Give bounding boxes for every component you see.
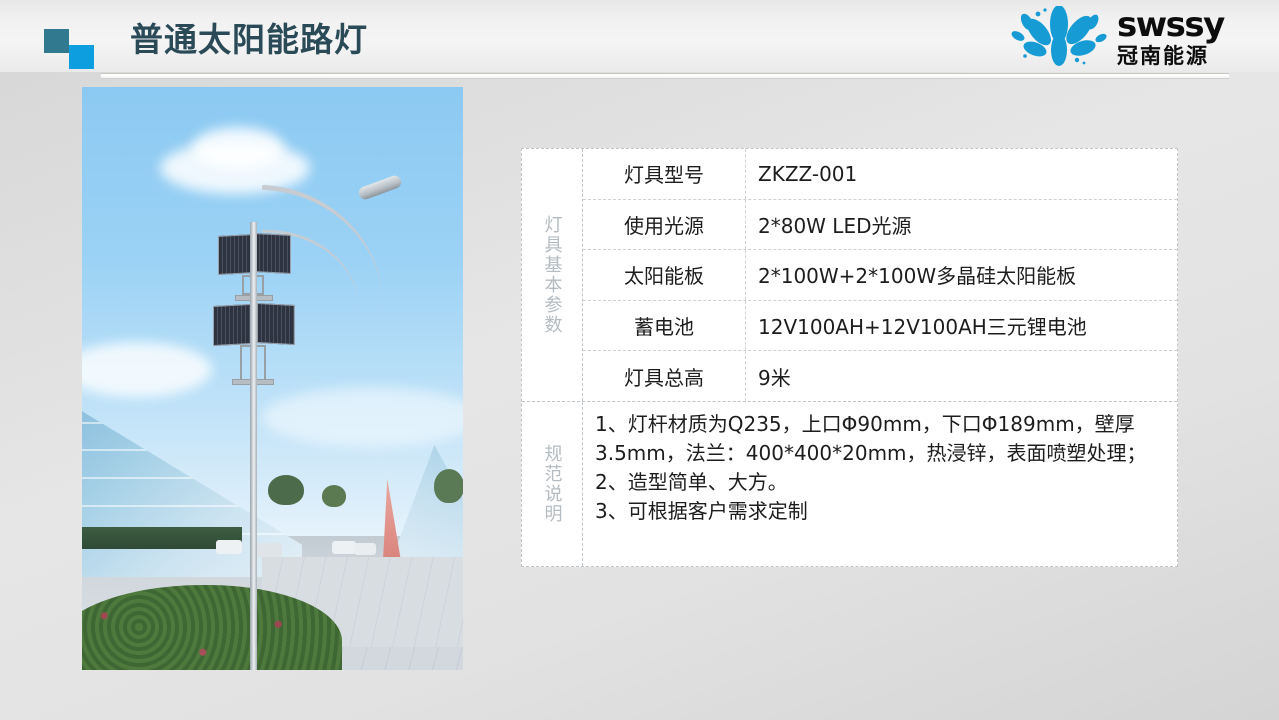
tree-shape bbox=[268, 475, 304, 505]
row-value: 12V100AH+12V100AH三元锂电池 bbox=[746, 301, 1177, 351]
water-droplet-flower-icon bbox=[1005, 6, 1113, 68]
basic-parameters-group-label: 灯具基本参数 bbox=[522, 149, 583, 401]
product-photo bbox=[82, 87, 463, 670]
row-key: 太阳能板 bbox=[583, 250, 746, 300]
basic-parameters-rows: 灯具型号 ZKZZ-001 使用光源 2*80W LED光源 太阳能板 2*10… bbox=[583, 149, 1177, 401]
logo-text-block: swssy 冠南能源 bbox=[1117, 8, 1261, 69]
parked-car bbox=[354, 543, 376, 555]
row-key: 蓄电池 bbox=[583, 301, 746, 351]
solar-panel bbox=[218, 234, 254, 275]
spec-note-line: 3、可根据客户需求定制 bbox=[595, 497, 1163, 526]
row-value: 9米 bbox=[746, 351, 1177, 401]
specification-notes-block: 规范说明 1、灯杆材质为Q235，上口Φ90mm，下口Φ189mm，壁厚3.5m… bbox=[522, 402, 1177, 566]
table-row: 灯具总高 9米 bbox=[583, 351, 1177, 401]
row-key: 灯具总高 bbox=[583, 351, 746, 401]
spec-note-line: 1、灯杆材质为Q235，上口Φ90mm，下口Φ189mm，壁厚3.5mm，法兰：… bbox=[595, 410, 1163, 468]
tree-shape bbox=[434, 469, 463, 503]
cloud-shape bbox=[192, 127, 284, 169]
specification-notes-group-label: 规范说明 bbox=[522, 402, 583, 566]
solar-panel bbox=[257, 303, 295, 345]
page-header: 普通太阳能路灯 bbox=[0, 0, 1279, 72]
basic-parameters-block: 灯具基本参数 灯具型号 ZKZZ-001 使用光源 2*80W LED光源 太阳… bbox=[522, 149, 1177, 402]
specification-notes-body: 1、灯杆材质为Q235，上口Φ90mm，下口Φ189mm，壁厚3.5mm，法兰：… bbox=[583, 402, 1177, 566]
table-row: 太阳能板 2*100W+2*100W多晶硅太阳能板 bbox=[583, 250, 1177, 301]
page-title: 普通太阳能路灯 bbox=[130, 18, 368, 62]
header-decoration-squares bbox=[44, 29, 96, 69]
parked-car bbox=[332, 541, 356, 554]
row-value: ZKZZ-001 bbox=[746, 149, 1177, 199]
header-divider-rule bbox=[101, 73, 1229, 79]
decoration-square-dark bbox=[44, 29, 69, 53]
company-logo: swssy 冠南能源 bbox=[1005, 4, 1261, 70]
row-key: 使用光源 bbox=[583, 200, 746, 250]
row-key: 灯具型号 bbox=[583, 149, 746, 199]
specification-table: 灯具基本参数 灯具型号 ZKZZ-001 使用光源 2*80W LED光源 太阳… bbox=[521, 148, 1178, 567]
row-value: 2*100W+2*100W多晶硅太阳能板 bbox=[746, 250, 1177, 300]
logo-wordmark: swssy bbox=[1117, 8, 1261, 42]
solar-panel bbox=[255, 233, 291, 274]
spec-note-line: 2、造型简单、大方。 bbox=[595, 468, 1163, 497]
decoration-square-light bbox=[69, 45, 94, 69]
logo-subtitle: 冠南能源 bbox=[1117, 43, 1261, 69]
row-value: 2*80W LED光源 bbox=[746, 200, 1177, 250]
table-row: 灯具型号 ZKZZ-001 bbox=[583, 149, 1177, 200]
solar-panel bbox=[213, 304, 251, 346]
light-pole bbox=[250, 222, 257, 670]
tree-shape bbox=[322, 485, 346, 507]
parked-car bbox=[216, 540, 242, 554]
table-row: 蓄电池 12V100AH+12V100AH三元锂电池 bbox=[583, 301, 1177, 352]
table-row: 使用光源 2*80W LED光源 bbox=[583, 200, 1177, 251]
